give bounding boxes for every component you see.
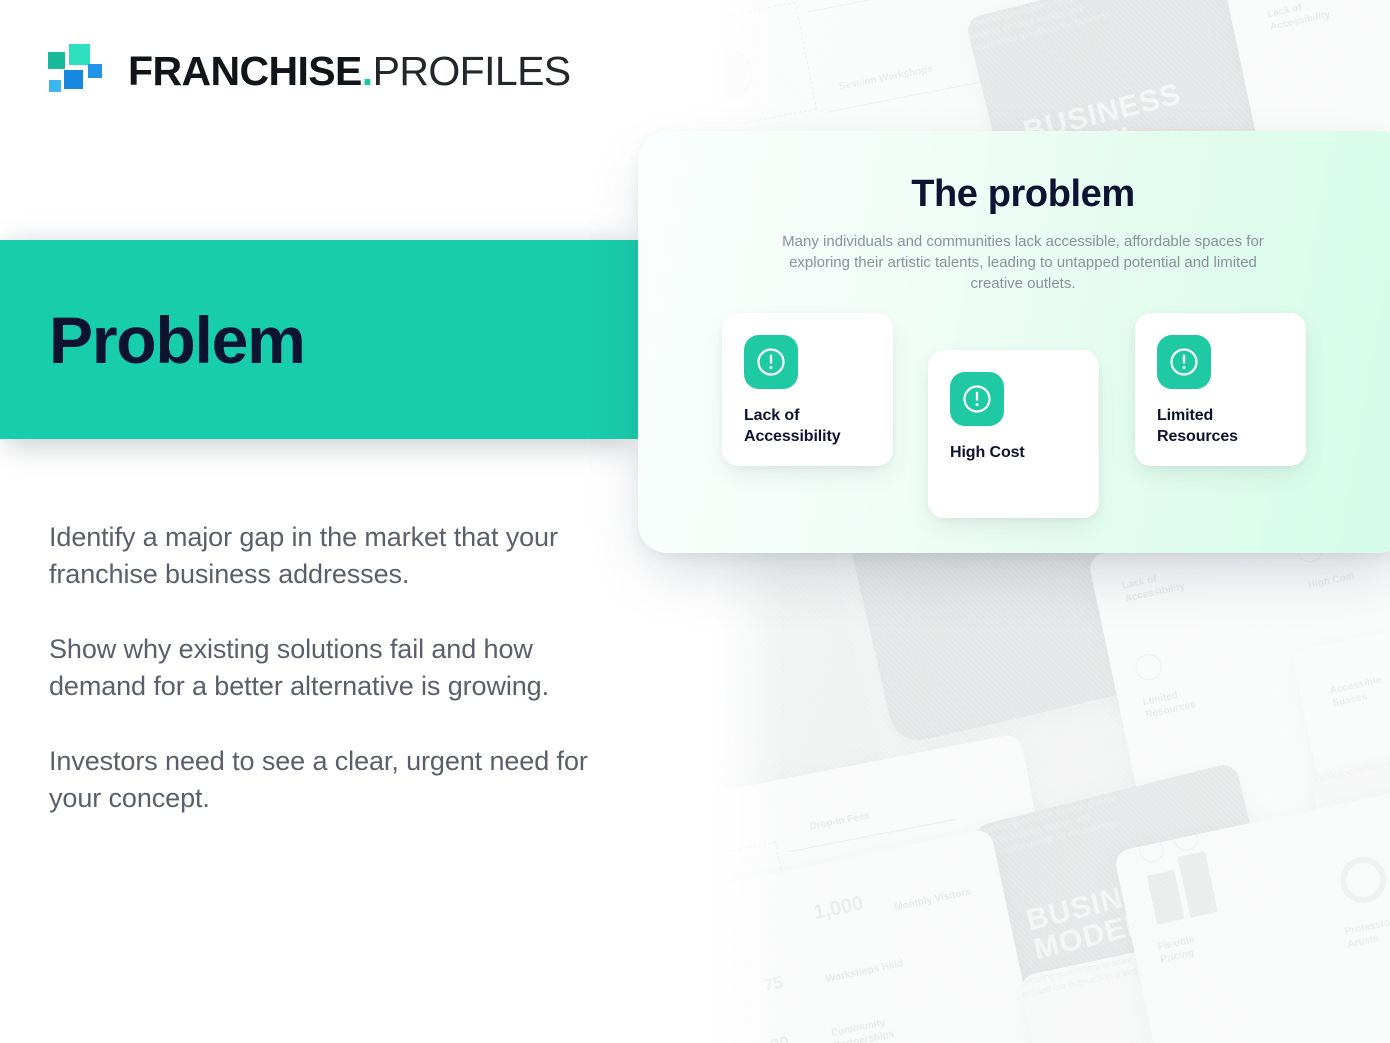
problem-card-label: Lack of Accessibility xyxy=(744,405,871,447)
panel-subtitle: Many individuals and communities lack ac… xyxy=(763,231,1283,294)
problem-card-label: Limited Resources xyxy=(1157,405,1284,447)
problem-card-label: High Cost xyxy=(950,442,1077,463)
logo-square-mint xyxy=(69,44,90,65)
logo-square-teal-dark xyxy=(48,52,65,69)
logo-word-secondary: PROFILES xyxy=(373,51,571,92)
logo-word-primary: FRANCHISE xyxy=(128,51,362,92)
page-title: Problem xyxy=(49,307,305,373)
problem-card-high-cost[interactable]: High Cost xyxy=(928,350,1099,518)
panel-title: The problem xyxy=(638,173,1390,216)
alert-circle-icon xyxy=(950,372,1004,426)
brand-logo[interactable]: FRANCHISE . PROFILES xyxy=(48,44,571,98)
description-paragraph-3: Investors need to see a clear, urgent ne… xyxy=(49,743,615,817)
problem-card-lack-of-accessibility[interactable]: Lack of Accessibility xyxy=(722,313,893,466)
logo-square-blue xyxy=(64,70,83,89)
alert-circle-icon xyxy=(744,335,798,389)
description-paragraph-1: Identify a major gap in the market that … xyxy=(49,519,615,593)
logo-mark-icon xyxy=(48,44,106,98)
slide-canvas: Drop-In Fees Session Workshops Commissio… xyxy=(0,0,1390,1043)
logo-square-blue-small xyxy=(88,64,102,78)
problem-card-limited-resources[interactable]: Limited Resources xyxy=(1135,313,1306,466)
alert-circle-icon xyxy=(1157,335,1211,389)
description-paragraph-2: Show why existing solutions fail and how… xyxy=(49,631,615,705)
slide-preview-panel[interactable]: The problem Many individuals and communi… xyxy=(638,131,1390,553)
logo-wordmark: FRANCHISE . PROFILES xyxy=(128,51,571,92)
section-banner: Problem xyxy=(0,240,638,439)
logo-dot: . xyxy=(362,51,373,92)
description-text-block: Identify a major gap in the market that … xyxy=(49,519,615,817)
logo-square-lightblue xyxy=(49,80,61,92)
